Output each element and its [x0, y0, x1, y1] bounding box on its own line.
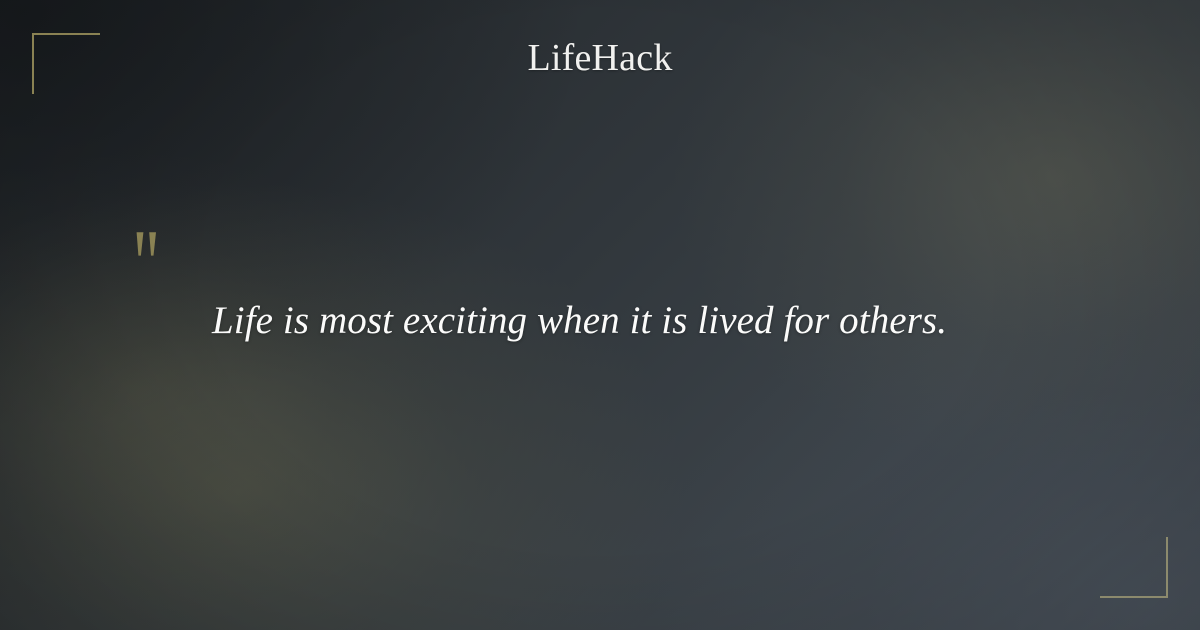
quote-mark-icon — [133, 231, 169, 267]
corner-bracket-bottom-right-icon — [1100, 537, 1168, 598]
quote-text: Life is most exciting when it is lived f… — [212, 296, 1042, 346]
lifehack-logo: LifeHack — [0, 38, 1200, 80]
quote-card: LifeHack Life is most exciting when it i… — [0, 0, 1200, 630]
